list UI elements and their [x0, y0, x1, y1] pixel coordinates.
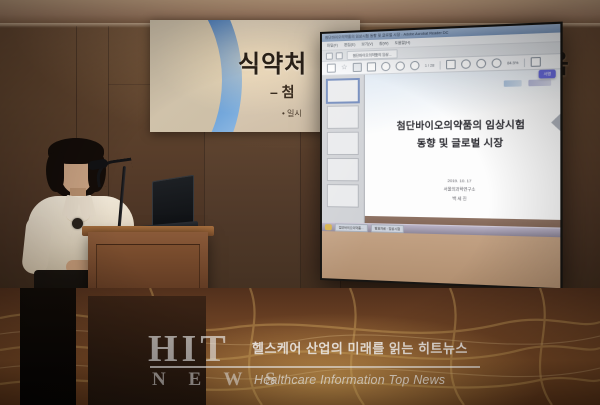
tab-nav-icons	[326, 52, 343, 60]
document-area: 첨단바이오의약품의 임상시험 동향 및 글로벌 시장 2019. 10. 17 …	[322, 69, 560, 237]
foreground-dark-column	[20, 288, 76, 405]
organization-logo-icon	[504, 80, 522, 87]
page-thumbnail[interactable]	[327, 158, 359, 181]
menu-item-edit[interactable]: 편집(E)	[344, 42, 355, 47]
page-thumbnail[interactable]	[327, 184, 359, 208]
page-indicator: 1 / 28	[425, 63, 435, 67]
star-icon[interactable]: ☆	[341, 64, 348, 71]
zoom-out-icon[interactable]	[476, 59, 486, 69]
search-icon[interactable]	[381, 62, 390, 71]
menu-item-window[interactable]: 창(W)	[379, 41, 388, 46]
zoom-in-icon[interactable]	[492, 58, 502, 68]
slide-page: 첨단바이오의약품의 임상시험 동향 및 글로벌 시장 2019. 10. 17 …	[365, 69, 560, 237]
watermark-divider	[150, 366, 480, 368]
toolbar-divider	[524, 58, 525, 67]
conference-presentation-photo: 식약처 – 첨 • 일시 지움 첨단바이오의약품의 임상시험 동향 및 글로벌 …	[0, 0, 600, 405]
banner-subtitle: – 첨	[270, 82, 295, 102]
sign-badge[interactable]: 서명	[539, 69, 556, 78]
presenter-hair-left	[46, 152, 64, 192]
document-tab[interactable]: 첨단바이오의약품의 임상...	[347, 49, 398, 60]
slide-title: 첨단바이오의약품의 임상시험 동향 및 글로벌 시장	[365, 117, 560, 153]
fit-page-icon[interactable]	[531, 57, 541, 67]
page-thumbnail[interactable]	[327, 132, 359, 155]
select-tool-icon[interactable]	[446, 60, 456, 70]
banner-title: 식약처	[238, 44, 307, 79]
save-icon[interactable]	[327, 63, 336, 72]
watermark-english-tagline: Healthcare Information Top News	[254, 373, 445, 387]
next-page-icon[interactable]	[410, 61, 419, 71]
hand-tool-icon[interactable]	[461, 59, 471, 69]
zoom-level-label[interactable]: 84.5%	[507, 60, 518, 65]
menu-item-help[interactable]: 도움말(H)	[395, 40, 410, 46]
watermark: HIT N E W S 헬스케어 산업의 미래를 읽는 히트뉴스 Healthc…	[148, 330, 478, 400]
menu-item-view[interactable]: 보기(V)	[361, 41, 373, 47]
watermark-hit-text: HIT	[148, 330, 230, 368]
slide-logo-group	[504, 79, 551, 87]
mail-icon[interactable]	[367, 62, 376, 71]
menu-item-file[interactable]: 파일(F)	[327, 43, 338, 48]
page-thumbnail[interactable]	[327, 105, 359, 129]
institute-logo-icon	[528, 79, 551, 86]
previous-page-icon[interactable]	[396, 61, 405, 71]
toolbar-divider	[440, 61, 441, 69]
slide-title-line-2: 동향 및 글로벌 시장	[365, 135, 560, 153]
start-button-icon[interactable]	[325, 224, 332, 230]
screen-lower-blank-area	[322, 231, 560, 288]
page-thumbnail[interactable]	[327, 79, 359, 103]
page-thumbnail-panel[interactable]	[322, 75, 365, 232]
watermark-korean-tagline: 헬스케어 산업의 미래를 읽는 히트뉴스	[252, 338, 468, 357]
projection-screen-surface: 첨단바이오의약품의 임상시험 동향 및 글로벌 시장 - Adobe Acrob…	[322, 24, 560, 288]
banner-detail-line: • 일시	[282, 108, 302, 119]
slide-title-line-1: 첨단바이오의약품의 임상시험	[365, 117, 560, 136]
print-icon[interactable]	[353, 63, 362, 72]
slide-light-sheen	[365, 69, 560, 237]
slide-subtitle-block: 2019. 10. 17 서울의과학연구소 백 세 진	[365, 176, 560, 205]
projection-screen-frame: 첨단바이오의약품의 임상시험 동향 및 글로벌 시장 - Adobe Acrob…	[320, 22, 563, 291]
pdf-reader-window: 첨단바이오의약품의 임상시험 동향 및 글로벌 시장 - Adobe Acrob…	[322, 24, 560, 237]
